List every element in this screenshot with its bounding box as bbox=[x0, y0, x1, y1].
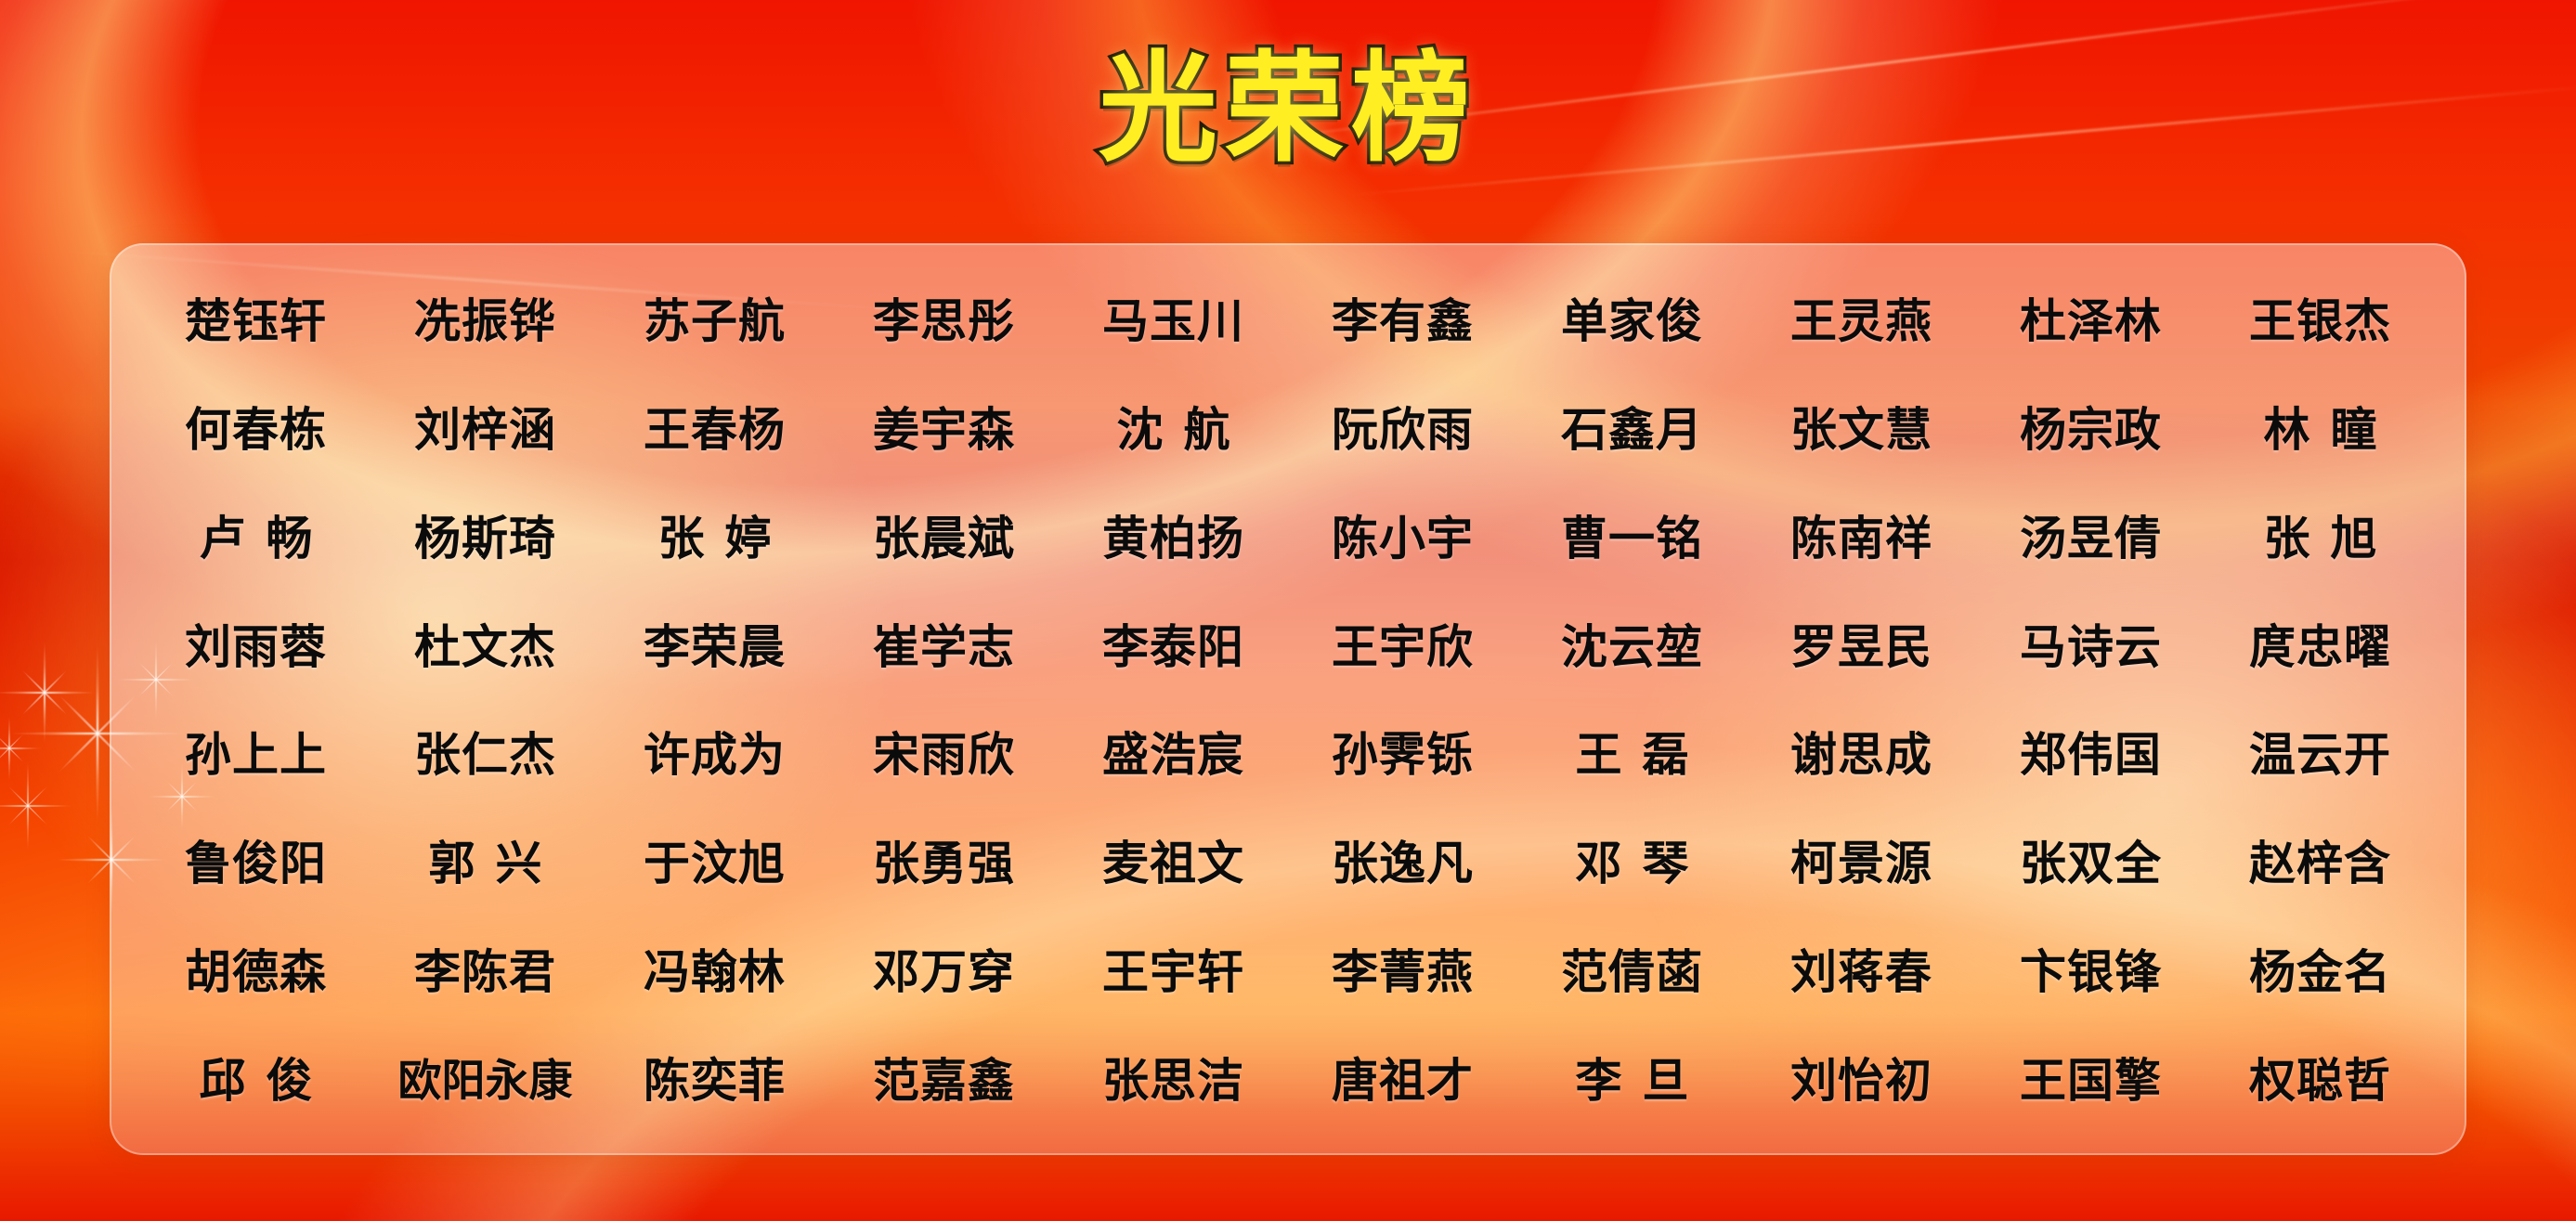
honoree-name: 卢畅 bbox=[141, 501, 371, 568]
honoree-name: 卞银锋 bbox=[1976, 935, 2205, 1002]
honoree-name: 赵梓含 bbox=[2205, 826, 2435, 893]
honoree-name: 杜文杰 bbox=[371, 610, 600, 677]
honoree-name: 权聪哲 bbox=[2205, 1044, 2435, 1111]
title-area: 光荣榜 bbox=[0, 26, 2576, 193]
honor-roll-row: 楚钰轩冼振铧苏子航李思彤马玉川李有鑫单家俊王灵燕杜泽林王银杰 bbox=[141, 264, 2435, 372]
honoree-name: 黄柏扬 bbox=[1059, 501, 1288, 568]
honoree-name: 盛浩宸 bbox=[1059, 718, 1288, 785]
honoree-name: 阮欣雨 bbox=[1288, 393, 1517, 460]
honor-roll-row: 卢畅杨斯琦张婷张晨斌黄柏扬陈小宇曹一铭陈南祥汤昱倩张旭 bbox=[141, 481, 2435, 590]
honoree-name: 冼振铧 bbox=[371, 284, 600, 351]
honoree-name: 李陈君 bbox=[371, 935, 600, 1002]
honoree-name: 单家俊 bbox=[1517, 284, 1747, 351]
honoree-name: 刘梓涵 bbox=[371, 393, 600, 460]
honoree-name: 胡德森 bbox=[141, 935, 371, 1002]
honoree-name: 于汶旭 bbox=[600, 826, 829, 893]
honor-roll-row: 孙上上张仁杰许成为宋雨欣盛浩宸孙霁铄王磊谢思成郑伟国温云开 bbox=[141, 697, 2435, 806]
honoree-name: 宋雨欣 bbox=[829, 718, 1059, 785]
honoree-name: 崔学志 bbox=[829, 610, 1059, 677]
page-title: 光荣榜 bbox=[1099, 50, 1477, 169]
honoree-name: 范倩菡 bbox=[1517, 935, 1747, 1002]
honoree-name: 郑伟国 bbox=[1976, 718, 2205, 785]
honoree-name: 李泰阳 bbox=[1059, 610, 1288, 677]
honoree-name: 杨金名 bbox=[2205, 935, 2435, 1002]
honor-roll-row: 刘雨蓉杜文杰李荣晨崔学志李泰阳王宇欣沈云堃罗昱民马诗云庹忠曜 bbox=[141, 589, 2435, 697]
honoree-name: 郭兴 bbox=[371, 826, 600, 893]
honoree-name: 王宇欣 bbox=[1288, 610, 1517, 677]
honoree-name: 林瞳 bbox=[2205, 393, 2435, 460]
honoree-name: 王国擎 bbox=[1976, 1044, 2205, 1111]
honoree-name: 陈南祥 bbox=[1747, 501, 1976, 568]
honoree-name: 张婷 bbox=[600, 501, 829, 568]
honoree-name: 温云开 bbox=[2205, 718, 2435, 785]
honoree-name: 许成为 bbox=[600, 718, 829, 785]
honoree-name: 杨宗政 bbox=[1976, 393, 2205, 460]
honoree-name: 王灵燕 bbox=[1747, 284, 1976, 351]
honoree-name: 张双全 bbox=[1976, 826, 2205, 893]
honoree-name: 李有鑫 bbox=[1288, 284, 1517, 351]
honor-roll-row: 何春栋刘梓涵王春杨姜宇森沈航阮欣雨石鑫月张文慧杨宗政林瞳 bbox=[141, 372, 2435, 481]
honoree-name: 张旭 bbox=[2205, 501, 2435, 568]
honoree-name: 姜宇森 bbox=[829, 393, 1059, 460]
honoree-name: 石鑫月 bbox=[1517, 393, 1747, 460]
honoree-name: 张晨斌 bbox=[829, 501, 1059, 568]
honoree-name: 邱俊 bbox=[141, 1044, 371, 1111]
honoree-name: 杜泽林 bbox=[1976, 284, 2205, 351]
honor-roll-row: 鲁俊阳郭兴于汶旭张勇强麦祖文张逸凡邓琴柯景源张双全赵梓含 bbox=[141, 806, 2435, 915]
honoree-name: 刘怡初 bbox=[1747, 1044, 1976, 1111]
honoree-name: 李思彤 bbox=[829, 284, 1059, 351]
honoree-name: 谢思成 bbox=[1747, 718, 1976, 785]
honoree-name: 邓万穿 bbox=[829, 935, 1059, 1002]
honoree-name: 陈奕菲 bbox=[600, 1044, 829, 1111]
honoree-name: 楚钰轩 bbox=[141, 284, 371, 351]
honor-roll-row: 胡德森李陈君冯翰林邓万穿王宇轩李菁燕范倩菡刘蒋春卞银锋杨金名 bbox=[141, 915, 2435, 1023]
honoree-name: 麦祖文 bbox=[1059, 826, 1288, 893]
honoree-name: 李旦 bbox=[1517, 1044, 1747, 1111]
honoree-name: 王磊 bbox=[1517, 718, 1747, 785]
honoree-name: 马诗云 bbox=[1976, 610, 2205, 677]
honoree-name: 刘雨蓉 bbox=[141, 610, 371, 677]
honoree-name: 范嘉鑫 bbox=[829, 1044, 1059, 1111]
honoree-name: 冯翰林 bbox=[600, 935, 829, 1002]
honoree-name: 苏子航 bbox=[600, 284, 829, 351]
honoree-name: 刘蒋春 bbox=[1747, 935, 1976, 1002]
honoree-name: 张勇强 bbox=[829, 826, 1059, 893]
honoree-name: 唐祖才 bbox=[1288, 1044, 1517, 1111]
honoree-name: 李菁燕 bbox=[1288, 935, 1517, 1002]
honoree-name: 沈云堃 bbox=[1517, 610, 1747, 677]
honoree-name: 张思洁 bbox=[1059, 1044, 1288, 1111]
honoree-name: 沈航 bbox=[1059, 393, 1288, 460]
honor-roll-row: 邱俊欧阳永康陈奕菲范嘉鑫张思洁唐祖才李旦刘怡初王国擎权聪哲 bbox=[141, 1022, 2435, 1131]
honoree-name: 邓琴 bbox=[1517, 826, 1747, 893]
honor-roll-panel: 楚钰轩冼振铧苏子航李思彤马玉川李有鑫单家俊王灵燕杜泽林王银杰何春栋刘梓涵王春杨姜… bbox=[110, 243, 2466, 1155]
honoree-name: 陈小宇 bbox=[1288, 501, 1517, 568]
honoree-name: 孙霁铄 bbox=[1288, 718, 1517, 785]
honoree-name: 曹一铭 bbox=[1517, 501, 1747, 568]
honoree-name: 庹忠曜 bbox=[2205, 610, 2435, 677]
honoree-name: 汤昱倩 bbox=[1976, 501, 2205, 568]
honor-roll-poster: 光荣榜 楚钰轩冼振铧苏子航李思彤马玉川李有鑫单家俊王灵燕杜泽林王银杰何春栋刘梓涵… bbox=[0, 0, 2576, 1221]
honoree-name: 王银杰 bbox=[2205, 284, 2435, 351]
honoree-name: 王宇轩 bbox=[1059, 935, 1288, 1002]
honoree-name: 王春杨 bbox=[600, 393, 829, 460]
honoree-name: 张逸凡 bbox=[1288, 826, 1517, 893]
honoree-name: 杨斯琦 bbox=[371, 501, 600, 568]
honoree-name: 罗昱民 bbox=[1747, 610, 1976, 677]
honoree-name: 张仁杰 bbox=[371, 718, 600, 785]
honoree-name: 马玉川 bbox=[1059, 284, 1288, 351]
honoree-name: 欧阳永康 bbox=[371, 1045, 600, 1109]
honoree-name: 张文慧 bbox=[1747, 393, 1976, 460]
honoree-name: 何春栋 bbox=[141, 393, 371, 460]
honoree-name: 柯景源 bbox=[1747, 826, 1976, 893]
honoree-name: 李荣晨 bbox=[600, 610, 829, 677]
honoree-name: 鲁俊阳 bbox=[141, 826, 371, 893]
honoree-name: 孙上上 bbox=[141, 718, 371, 785]
